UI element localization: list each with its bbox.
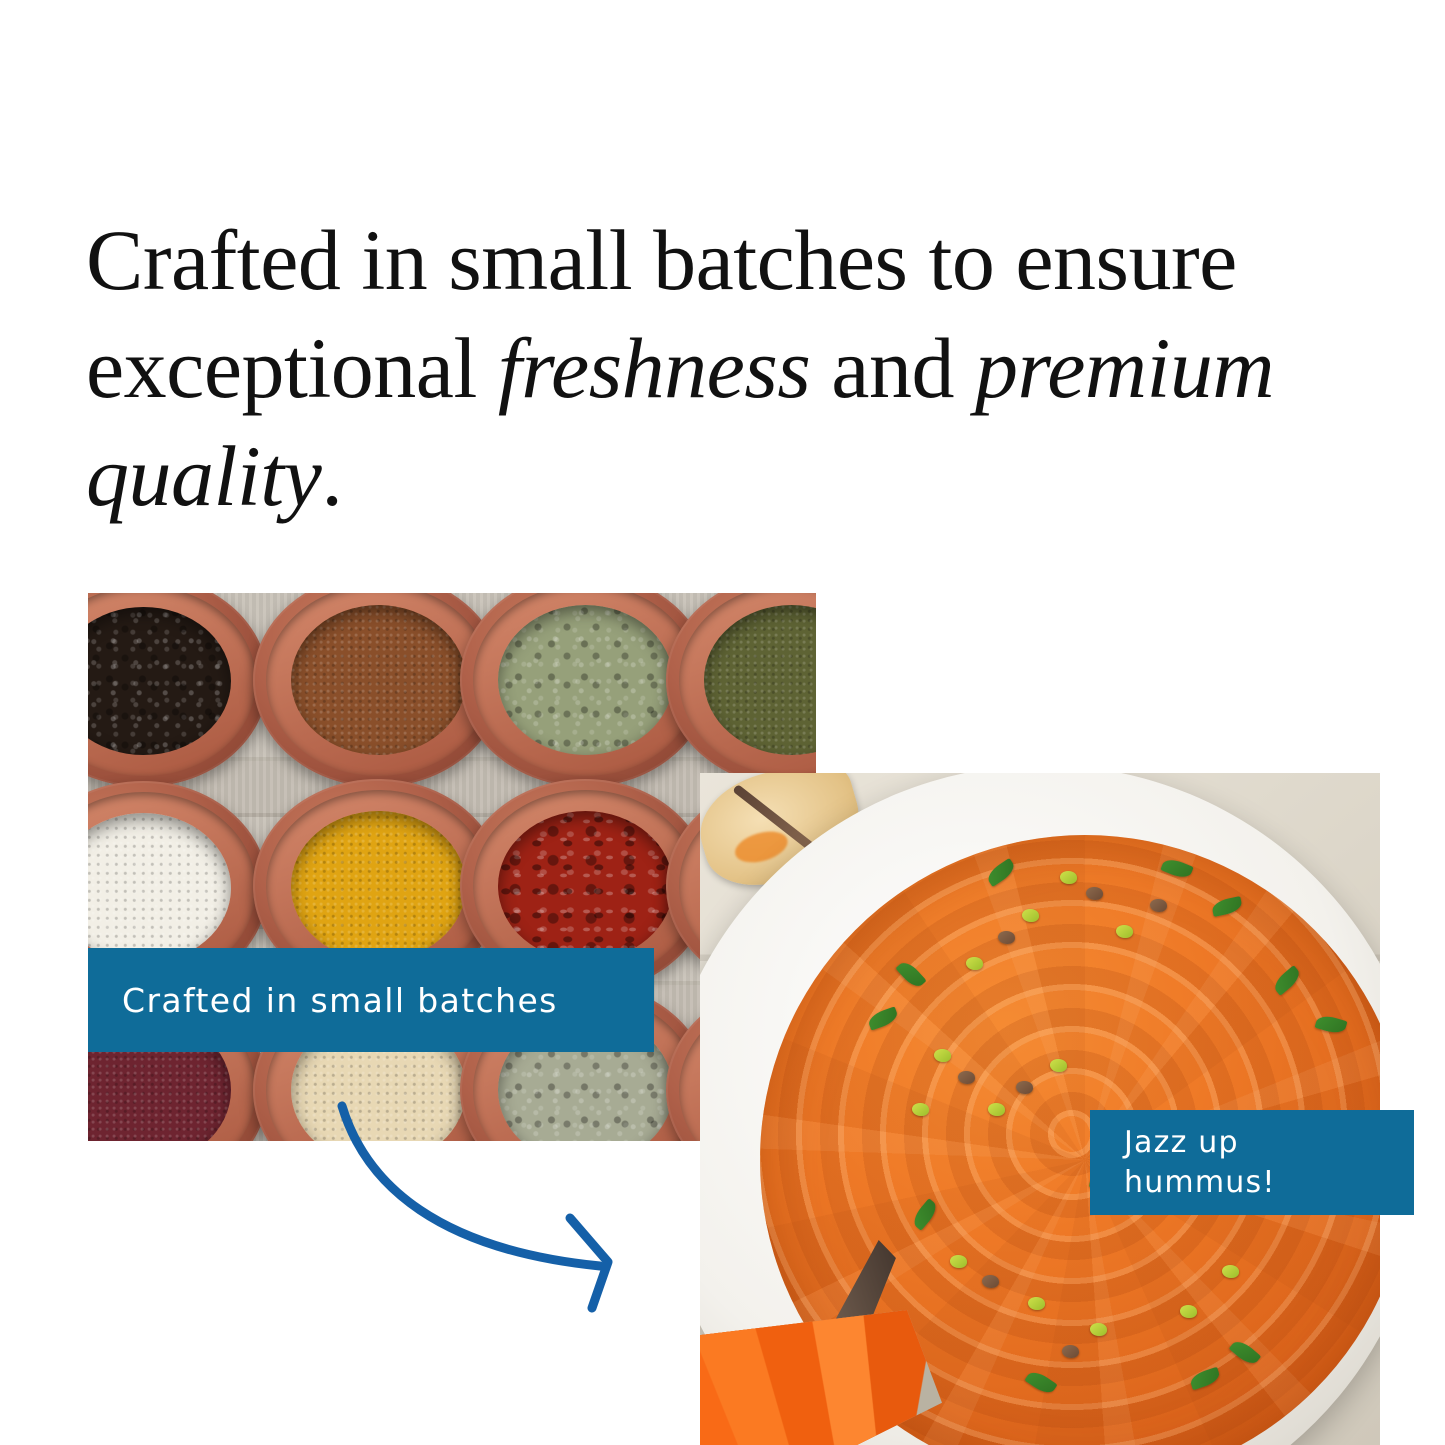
headline-line-3-plain: and — [831, 320, 975, 416]
curved-arrow-icon — [270, 1090, 710, 1330]
pistachio-piece — [1180, 1305, 1197, 1318]
headline-line-1: Crafted in small batches to — [86, 212, 994, 308]
headline-period: . — [321, 428, 342, 524]
hummus-photo — [700, 773, 1380, 1445]
pistachio-piece — [1016, 1081, 1033, 1094]
page-title: Crafted in small batches to ensure excep… — [86, 206, 1376, 530]
pistachio-piece — [982, 1275, 999, 1288]
pistachio-piece — [1050, 1059, 1067, 1072]
poster-canvas: Crafted in small batches to ensure excep… — [0, 0, 1445, 1445]
pistachio-piece — [1116, 925, 1133, 938]
pistachio-piece — [1222, 1265, 1239, 1278]
pistachio-piece — [998, 931, 1015, 944]
pistachio-piece — [934, 1049, 951, 1062]
callout-crafted-in-small-batches: Crafted in small batches — [88, 948, 654, 1052]
pistachio-piece — [1086, 887, 1103, 900]
pistachio-piece — [1022, 909, 1039, 922]
pistachio-piece — [950, 1255, 967, 1268]
pistachio-piece — [1090, 1323, 1107, 1336]
callout-batches-label: Crafted in small batches — [122, 981, 558, 1020]
callout-hummus-label: Jazz up hummus! — [1124, 1123, 1276, 1203]
pistachio-piece — [1150, 899, 1167, 912]
pistachio-piece — [958, 1071, 975, 1084]
pistachio-piece — [1060, 871, 1077, 884]
pistachio-piece — [988, 1103, 1005, 1116]
headline-emphasis-freshness: freshness — [498, 320, 810, 416]
pistachio-piece — [1062, 1345, 1079, 1358]
pistachio-piece — [912, 1103, 929, 1116]
callout-jazz-up-hummus: Jazz up hummus! — [1090, 1110, 1414, 1215]
pistachio-piece — [1028, 1297, 1045, 1310]
pistachio-piece — [966, 957, 983, 970]
